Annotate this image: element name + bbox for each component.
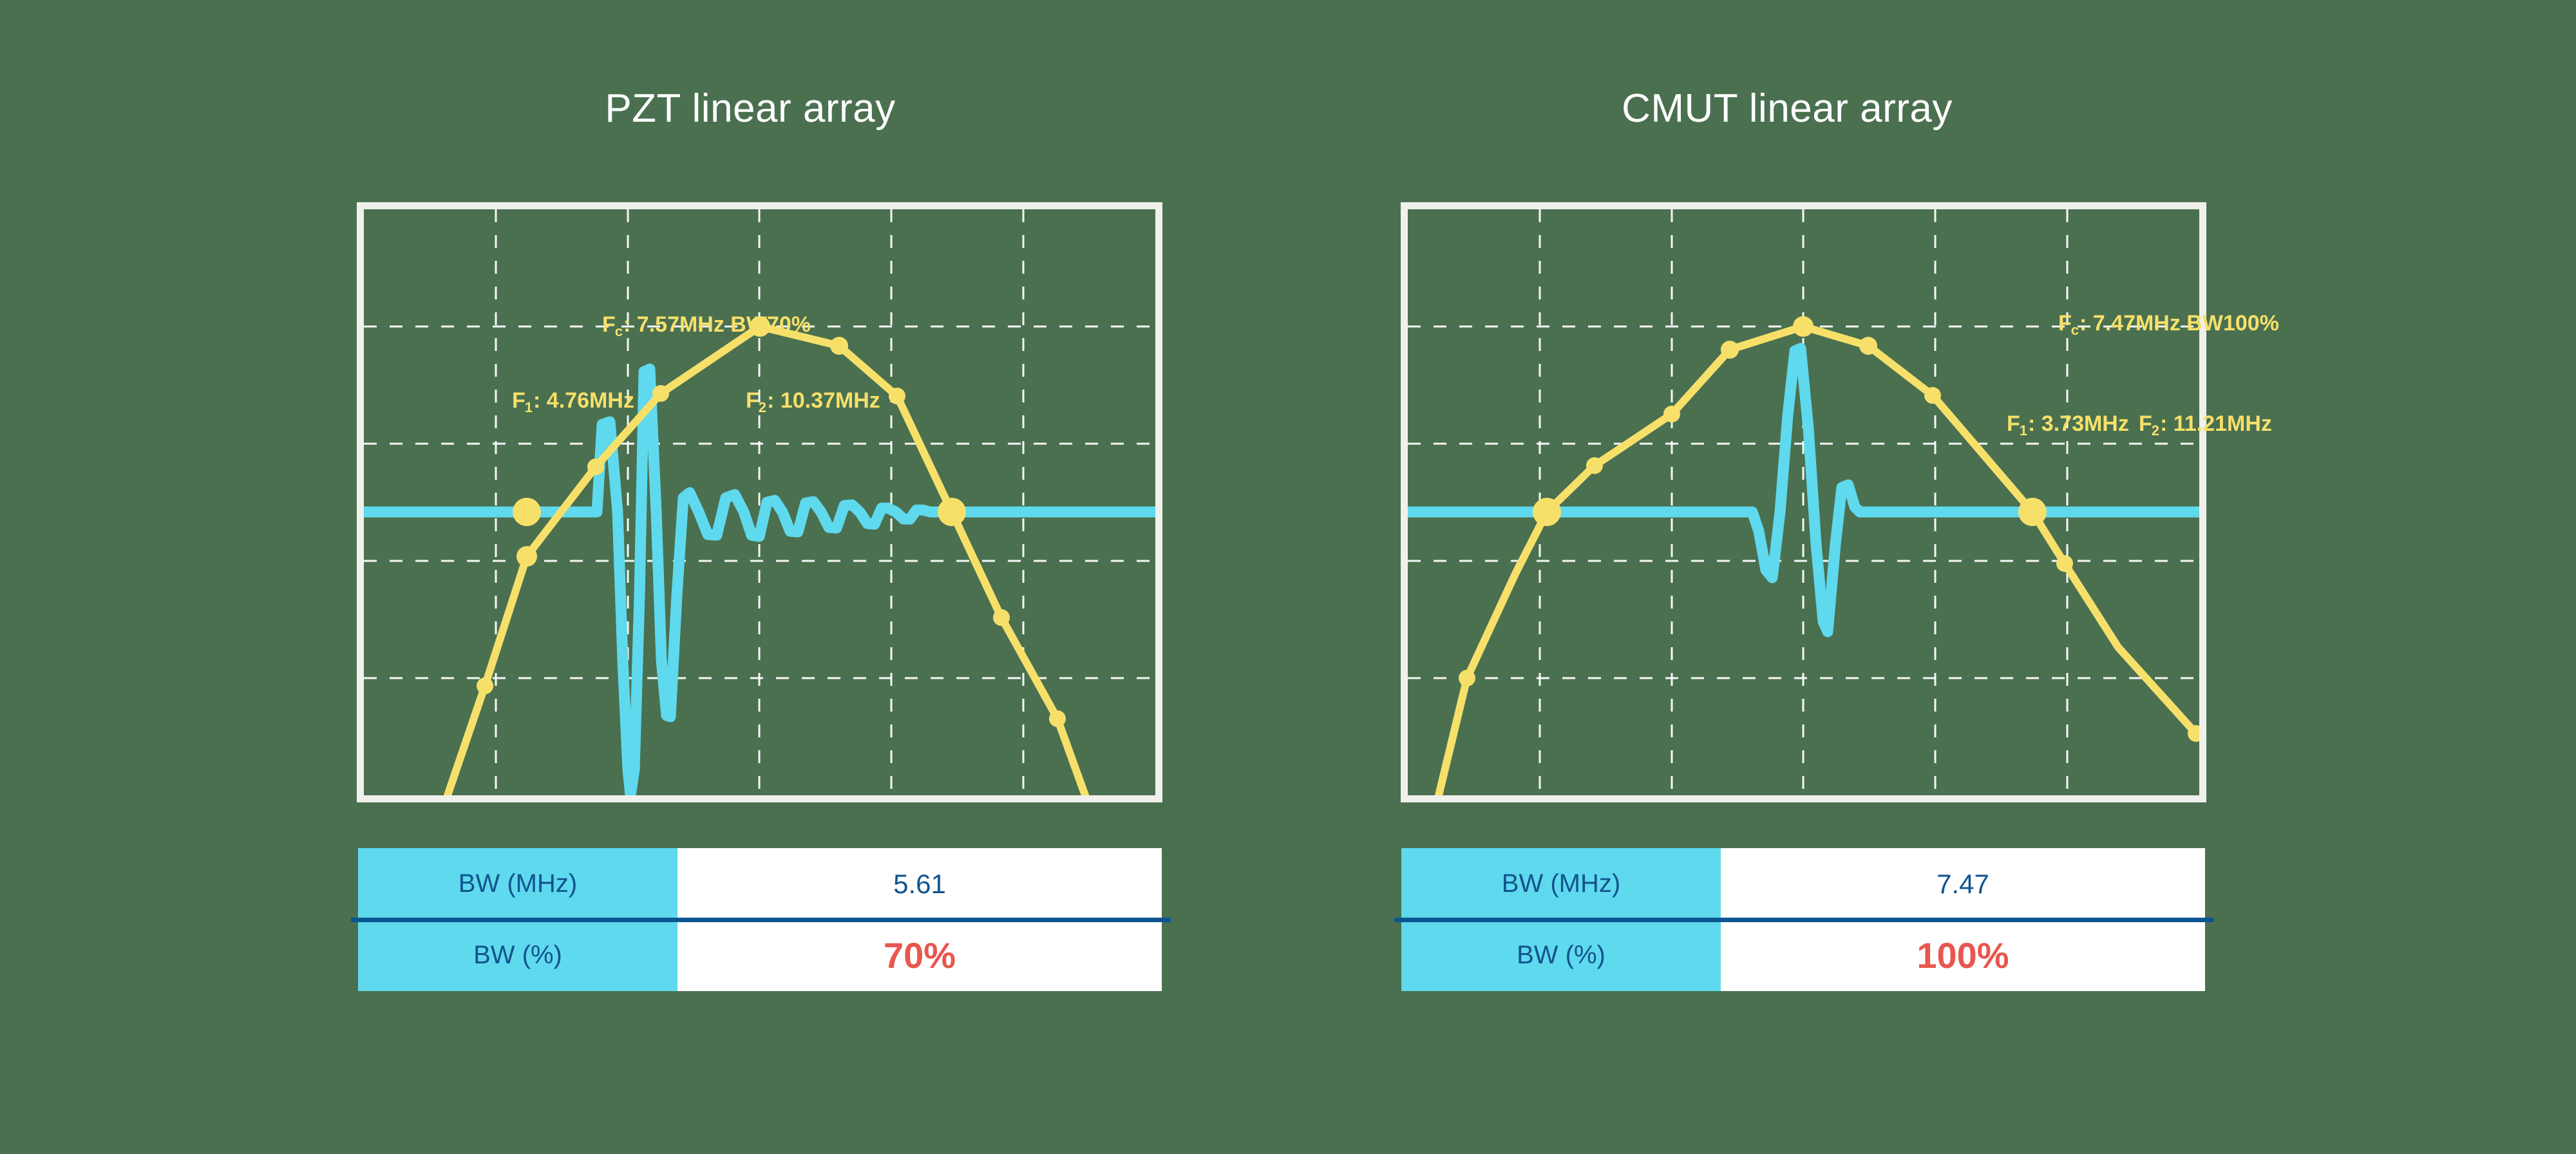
f1-text: : 4.76MHz bbox=[533, 388, 634, 413]
f1-text: : 3.73MHz bbox=[2028, 411, 2129, 436]
fc-text: : 7.47MHz BW100% bbox=[2079, 311, 2279, 336]
annotation-f2-cmut: F2: 11.21MHz bbox=[2139, 413, 2272, 435]
f1-symbol: F bbox=[2007, 411, 2020, 436]
f1-subscript: 1 bbox=[2020, 422, 2027, 439]
page-title-pzt: PZT linear array bbox=[299, 89, 1201, 129]
table-divider-line bbox=[1394, 918, 2214, 922]
bw-table-pzt: BW (MHz) 5.61 BW (%) 70% bbox=[358, 848, 1162, 991]
f2-symbol: F bbox=[746, 388, 759, 413]
fc-symbol: F bbox=[2058, 311, 2072, 336]
annotation-f1-pzt: F1: 4.76MHz bbox=[512, 390, 634, 411]
table-row: BW (%) 70% bbox=[358, 920, 1162, 991]
table-row: BW (MHz) 7.47 bbox=[1401, 848, 2205, 920]
f2-subscript: 2 bbox=[2152, 422, 2159, 439]
chart-svg-pzt bbox=[364, 209, 1155, 795]
page-title-cmut: CMUT linear array bbox=[1336, 89, 2238, 129]
marker-f2-pzt bbox=[938, 498, 966, 526]
infographic-root: PZT linear array bbox=[0, 0, 2576, 1154]
bw-mhz-label: BW (MHz) bbox=[358, 848, 677, 920]
annotation-fc-cmut: Fc: 7.47MHz BW100% bbox=[2058, 312, 2279, 334]
table-divider-line bbox=[351, 918, 1171, 922]
grid-lines-vertical-cmut bbox=[1540, 209, 2067, 795]
f2-subscript: 2 bbox=[759, 399, 766, 415]
fc-subscript: c bbox=[615, 323, 623, 339]
f1-symbol: F bbox=[512, 388, 526, 413]
bw-percent-value: 100% bbox=[1721, 920, 2205, 991]
f2-text: : 10.37MHz bbox=[767, 388, 880, 413]
annotation-f2-pzt: F2: 10.37MHz bbox=[746, 390, 880, 411]
data-point-markers-pzt bbox=[477, 316, 1066, 727]
f2-text: : 11.21MHz bbox=[2160, 411, 2272, 436]
bw-table-cmut: BW (MHz) 7.47 BW (%) 100% bbox=[1401, 848, 2205, 991]
annotation-fc-pzt: Fc: 7.57MHz BW70% bbox=[602, 314, 811, 336]
chart-plot-area-pzt bbox=[364, 209, 1155, 795]
fc-text: : 7.57MHz BW70% bbox=[623, 312, 811, 337]
f2-symbol: F bbox=[2139, 411, 2152, 436]
annotation-f1-cmut: F1: 3.73MHz bbox=[2007, 413, 2129, 435]
chart-frame-pzt: Fc: 7.57MHz BW70% F1: 4.76MHz F2: 10.37M… bbox=[357, 202, 1162, 802]
bw-mhz-value: 7.47 bbox=[1721, 848, 2205, 920]
marker-f1-pzt bbox=[513, 498, 541, 526]
table-row: BW (%) 100% bbox=[1401, 920, 2205, 991]
bw-percent-label: BW (%) bbox=[358, 920, 677, 991]
chart-svg-cmut bbox=[1408, 209, 2199, 795]
panel-cmut: CMUT linear array bbox=[1352, 0, 2254, 1154]
f1-subscript: 1 bbox=[525, 399, 533, 415]
panel-pzt: PZT linear array bbox=[309, 0, 1211, 1154]
chart-frame-cmut: Fc: 7.47MHz BW100% F1: 3.73MHz F2: 11.21… bbox=[1401, 202, 2206, 802]
bw-mhz-label: BW (MHz) bbox=[1401, 848, 1721, 920]
table-row: BW (MHz) 5.61 bbox=[358, 848, 1162, 920]
bw-mhz-value: 5.61 bbox=[677, 848, 1162, 920]
bw-percent-value: 70% bbox=[677, 920, 1162, 991]
fc-symbol: F bbox=[602, 312, 616, 337]
bw-percent-label: BW (%) bbox=[1401, 920, 1721, 991]
fc-subscript: c bbox=[2071, 322, 2079, 338]
chart-plot-area-cmut bbox=[1408, 209, 2199, 795]
